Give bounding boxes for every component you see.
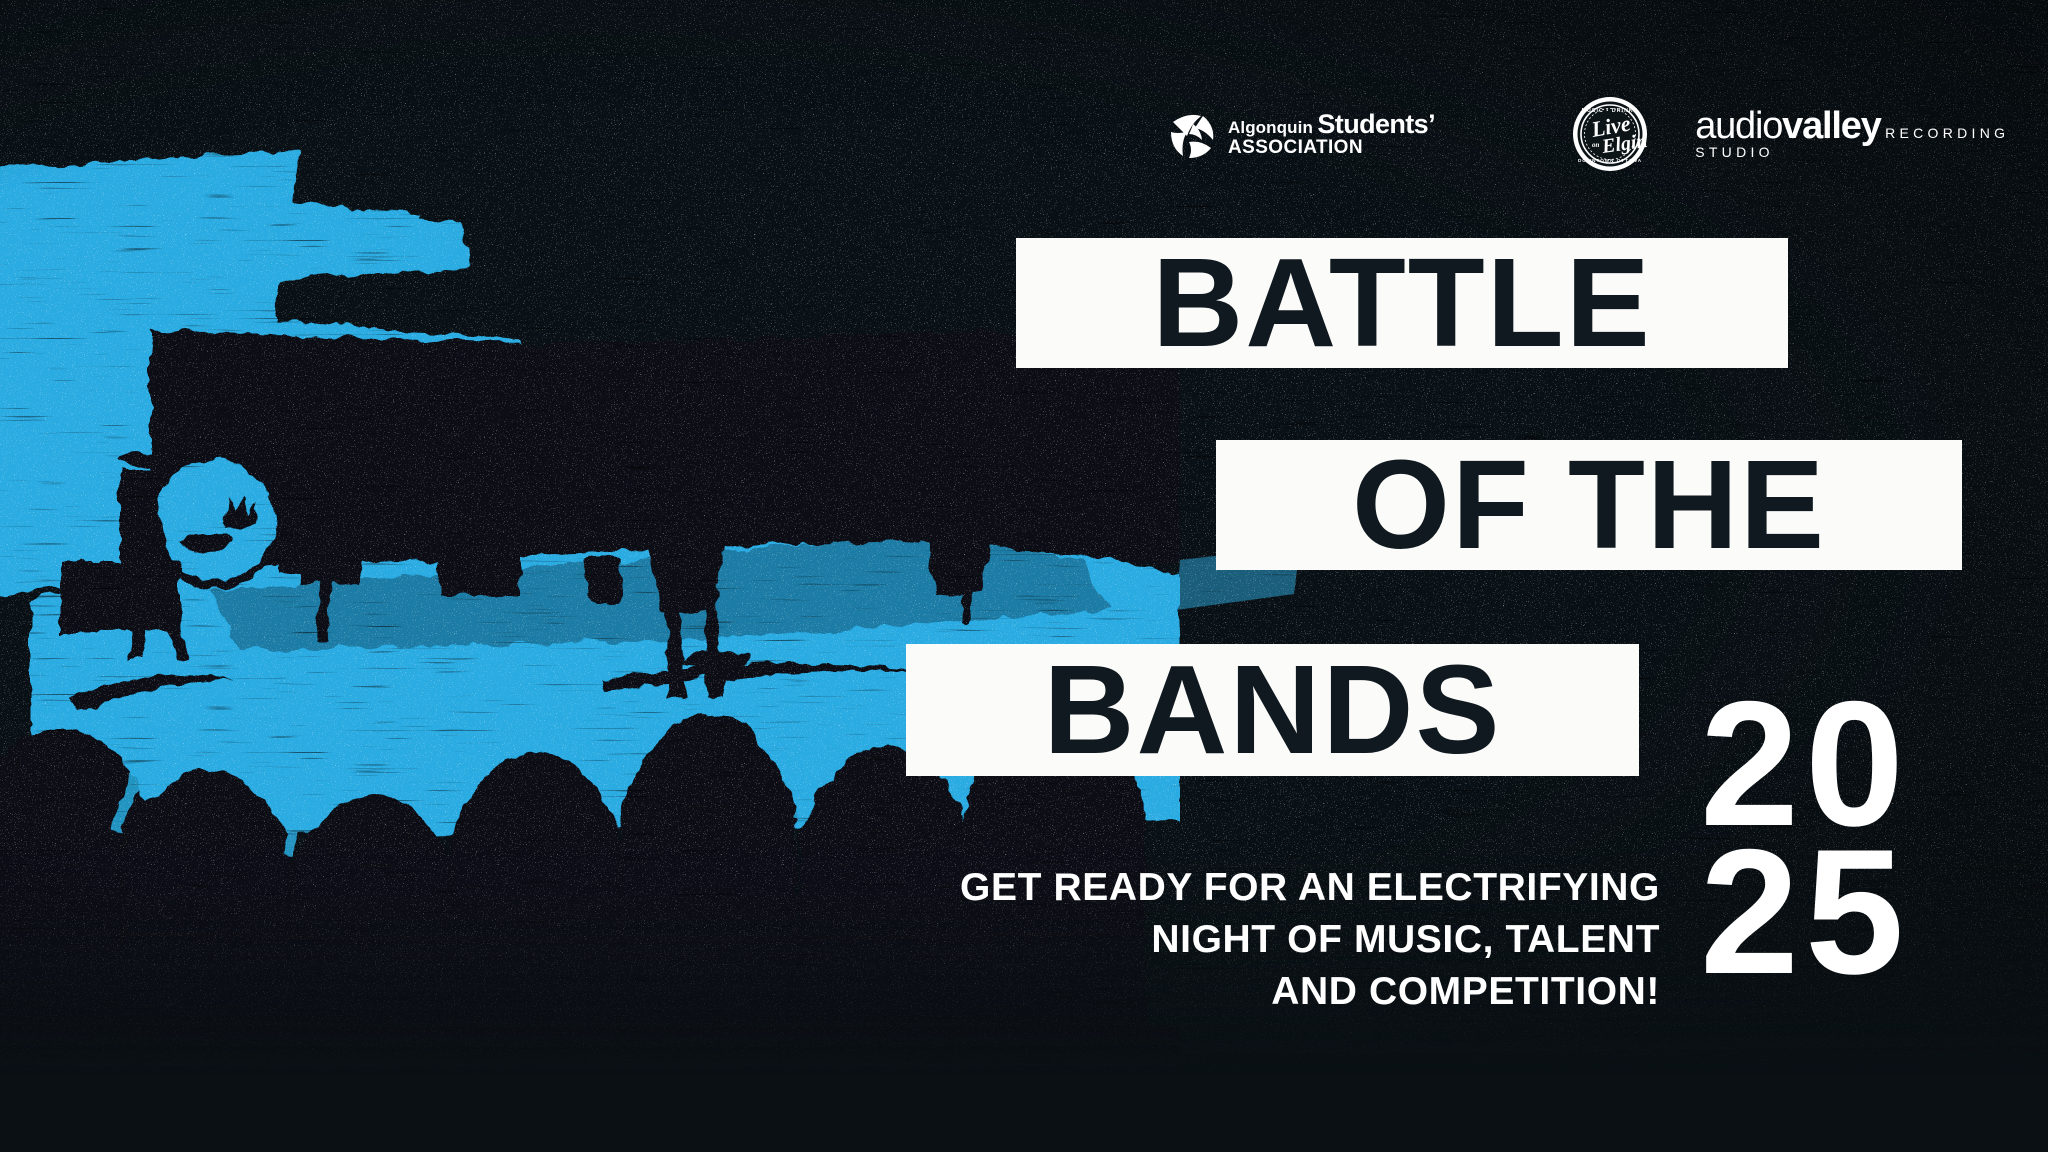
headline-block-of-the: OF THE [1216,440,1962,570]
headline-block-battle: BATTLE [1016,238,1788,368]
event-year: 20 25 [1700,690,1910,985]
tagline-line-3: AND COMPETITION! [900,966,1660,1018]
headline-line-1: BATTLE [1152,251,1652,354]
headline-line-2: OF THE [1352,453,1826,556]
year-bottom: 25 [1700,838,1910,986]
tagline-line-1: GET READY FOR AN ELECTRIFYING [900,862,1660,914]
headline-line-3: BANDS [1043,658,1501,761]
headline-block-bands: BANDS [906,644,1639,776]
tagline-line-2: NIGHT OF MUSIC, TALENT [900,914,1660,966]
poster-canvas: Algonquin Students’ ASSOCIATION MUSIC • … [0,0,2048,1152]
event-tagline: GET READY FOR AN ELECTRIFYING NIGHT OF M… [900,862,1660,1018]
